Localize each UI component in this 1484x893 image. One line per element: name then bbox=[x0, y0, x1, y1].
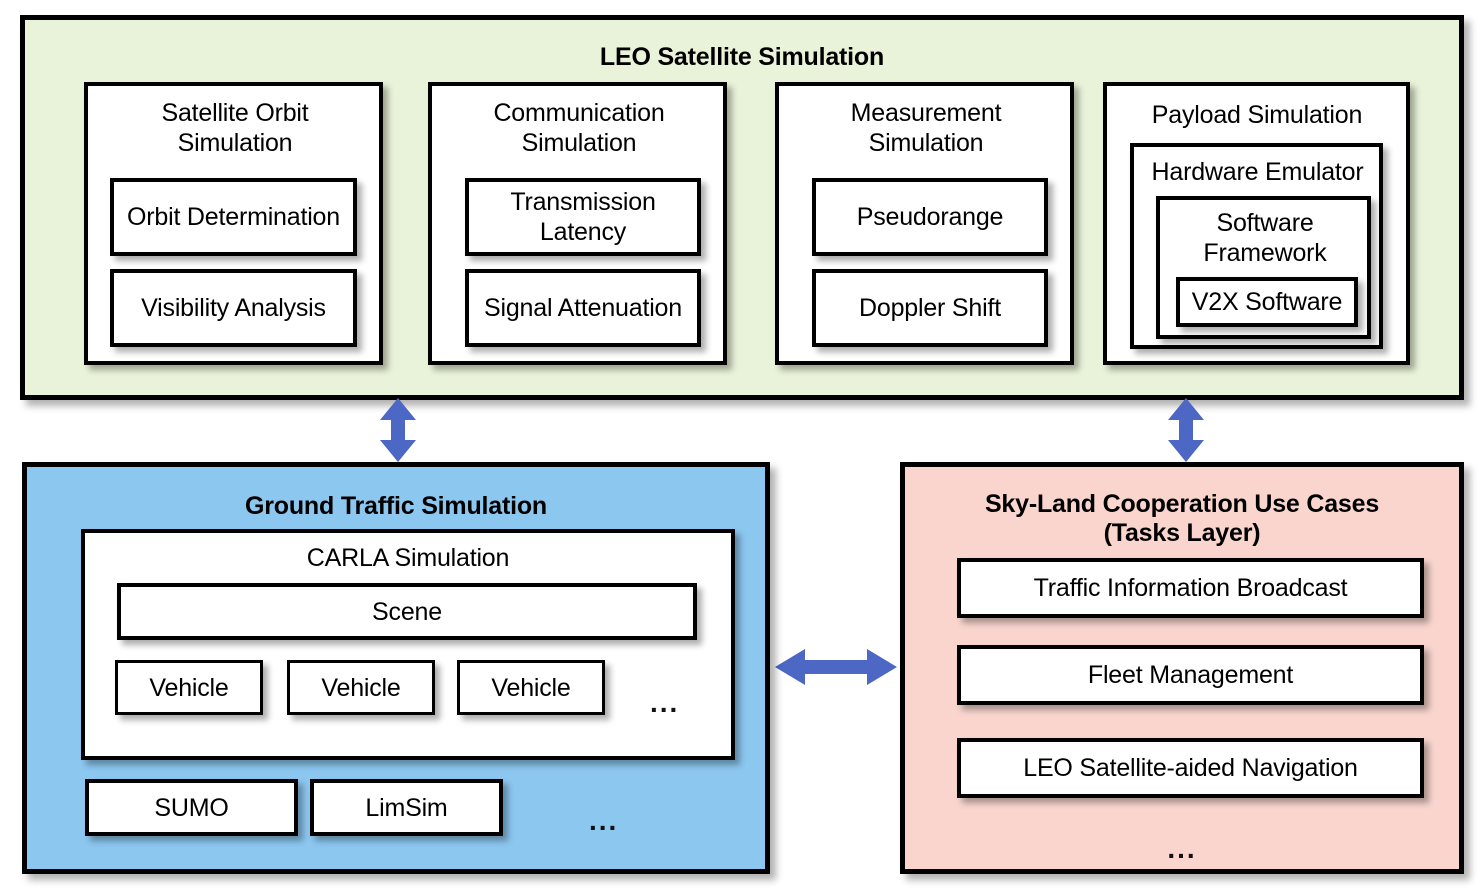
visibility-analysis-box: Visibility Analysis bbox=[110, 269, 357, 347]
vehicles-ellipsis: ... bbox=[650, 689, 679, 717]
scene-box: Scene bbox=[117, 583, 697, 640]
signal-attenuation-box: Signal Attenuation bbox=[465, 269, 701, 347]
engines-ellipsis: ... bbox=[589, 807, 618, 835]
task-box-leo-satellite-aided-navigation: LEO Satellite-aided Navigation bbox=[957, 738, 1424, 798]
transmission-latency-box: Transmission Latency bbox=[465, 178, 701, 256]
v2x-software-box: V2X Software bbox=[1176, 277, 1358, 327]
bidirectional-horizontal-arrow-icon bbox=[775, 645, 897, 689]
carla-simulation-box: CARLA Simulation Scene Vehicle Vehicle V… bbox=[81, 529, 735, 760]
orbit-determination-box: Orbit Determination bbox=[110, 178, 357, 256]
vehicle-box-2: Vehicle bbox=[287, 660, 435, 715]
doppler-shift-box: Doppler Shift bbox=[812, 269, 1048, 347]
vehicle-box-1: Vehicle bbox=[115, 660, 263, 715]
tasks-ellipsis: ... bbox=[905, 835, 1459, 863]
hardware-emulator-box: Hardware Emulator Software Framework V2X… bbox=[1130, 143, 1383, 349]
payload-simulation-box: Payload Simulation Hardware Emulator Sof… bbox=[1103, 82, 1410, 365]
limsim-box: LimSim bbox=[310, 779, 503, 836]
leo-to-tasks-arrow bbox=[1164, 398, 1208, 462]
diagram-canvas: LEO Satellite Simulation Satellite Orbit… bbox=[0, 0, 1484, 893]
payload-simulation-title: Payload Simulation bbox=[1117, 100, 1397, 130]
measurement-simulation-title: Measurement Simulation bbox=[793, 98, 1059, 158]
tasks-panel-title-line2: (Tasks Layer) bbox=[905, 519, 1459, 549]
hardware-emulator-title: Hardware Emulator bbox=[1140, 157, 1375, 187]
task-box-fleet-management: Fleet Management bbox=[957, 645, 1424, 705]
leo-to-ground-arrow bbox=[376, 398, 420, 462]
carla-simulation-title: CARLA Simulation bbox=[85, 543, 731, 573]
leo-satellite-simulation-panel: LEO Satellite Simulation Satellite Orbit… bbox=[20, 15, 1464, 400]
ground-panel-title: Ground Traffic Simulation bbox=[27, 492, 765, 522]
vehicle-box-3: Vehicle bbox=[457, 660, 605, 715]
ground-to-tasks-arrow bbox=[775, 645, 897, 689]
sumo-box: SUMO bbox=[85, 779, 298, 836]
bidirectional-vertical-arrow-icon bbox=[376, 398, 420, 462]
sky-land-cooperation-panel: Sky-Land Cooperation Use Cases (Tasks La… bbox=[900, 462, 1464, 874]
leo-panel-title: LEO Satellite Simulation bbox=[25, 43, 1459, 73]
satellite-orbit-simulation-title: Satellite Orbit Simulation bbox=[102, 98, 368, 158]
measurement-simulation-box: Measurement Simulation Pseudorange Doppl… bbox=[775, 82, 1074, 365]
communication-simulation-title: Communication Simulation bbox=[446, 98, 712, 158]
software-framework-box: Software Framework V2X Software bbox=[1156, 196, 1371, 339]
ground-traffic-simulation-panel: Ground Traffic Simulation CARLA Simulati… bbox=[22, 462, 770, 874]
pseudorange-box: Pseudorange bbox=[812, 178, 1048, 256]
tasks-panel-title-line1: Sky-Land Cooperation Use Cases bbox=[905, 490, 1459, 520]
software-framework-title: Software Framework bbox=[1165, 208, 1365, 268]
bidirectional-vertical-arrow-icon bbox=[1164, 398, 1208, 462]
communication-simulation-box: Communication Simulation Transmission La… bbox=[428, 82, 727, 365]
task-box-traffic-information-broadcast: Traffic Information Broadcast bbox=[957, 558, 1424, 618]
satellite-orbit-simulation-box: Satellite Orbit Simulation Orbit Determi… bbox=[84, 82, 383, 365]
